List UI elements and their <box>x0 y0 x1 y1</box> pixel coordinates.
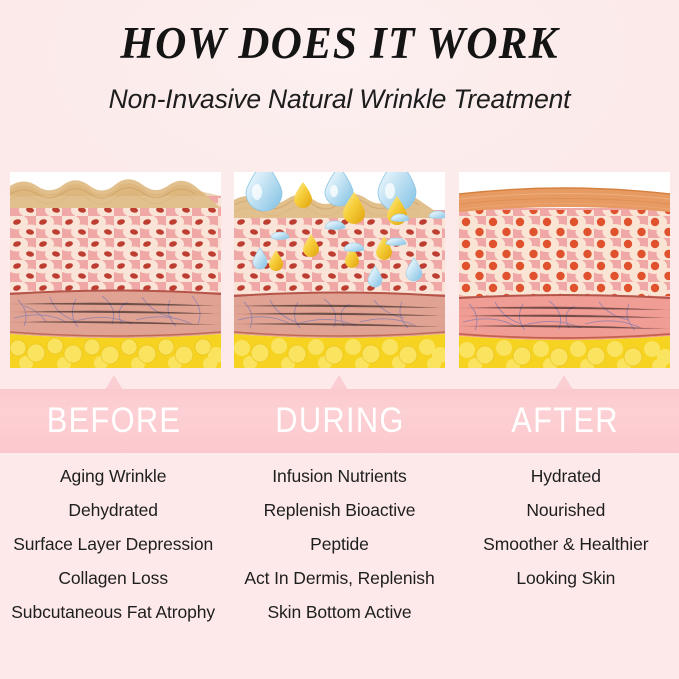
stage-label-during: DURING <box>240 389 441 453</box>
page-title: HOW DOES IT WORK <box>14 17 666 69</box>
list-item: Skin Bottom Active <box>226 604 452 622</box>
skin-cross-section-smooth-icon <box>459 172 670 368</box>
illustration-panel-row <box>0 172 679 368</box>
stage-label-band: BEFORE DURING AFTER <box>0 389 679 453</box>
list-item: Dehydrated <box>0 502 226 520</box>
skin-cross-section-wrinkled-icon <box>10 172 221 368</box>
list-item: Aging Wrinkle <box>0 468 226 486</box>
list-item: Looking Skin <box>453 570 679 588</box>
list-item: Nourished <box>453 502 679 520</box>
list-item: Replenish Bioactive <box>226 502 452 520</box>
description-column-after: Hydrated Nourished Smoother & Healthier … <box>453 468 679 668</box>
list-item: Subcutaneous Fat Atrophy <box>0 604 226 622</box>
stage-label-after: AFTER <box>465 389 666 453</box>
pointer-notch-before <box>105 375 123 390</box>
description-column-before: Aging Wrinkle Dehydrated Surface Layer D… <box>0 468 226 668</box>
list-item: Infusion Nutrients <box>226 468 452 486</box>
list-item: Peptide <box>226 536 452 554</box>
panel-before <box>10 172 221 368</box>
skin-cross-section-with-droplets-icon <box>234 172 445 368</box>
pointer-notch-during <box>330 375 348 390</box>
description-column-during: Infusion Nutrients Replenish Bioactive P… <box>226 468 452 668</box>
infographic-root: HOW DOES IT WORK Non-Invasive Natural Wr… <box>0 0 679 679</box>
list-item: Collagen Loss <box>0 570 226 588</box>
panel-after <box>459 172 670 368</box>
description-columns: Aging Wrinkle Dehydrated Surface Layer D… <box>0 468 679 668</box>
pointer-notch-after <box>555 375 573 390</box>
stage-label-before: BEFORE <box>14 389 215 453</box>
panel-during <box>234 172 445 368</box>
list-item: Smoother & Healthier <box>453 536 679 554</box>
page-subtitle: Non-Invasive Natural Wrinkle Treatment <box>0 84 679 115</box>
list-item: Act In Dermis, Replenish <box>226 570 452 588</box>
list-item: Surface Layer Depression <box>0 536 226 554</box>
list-item: Hydrated <box>453 468 679 486</box>
